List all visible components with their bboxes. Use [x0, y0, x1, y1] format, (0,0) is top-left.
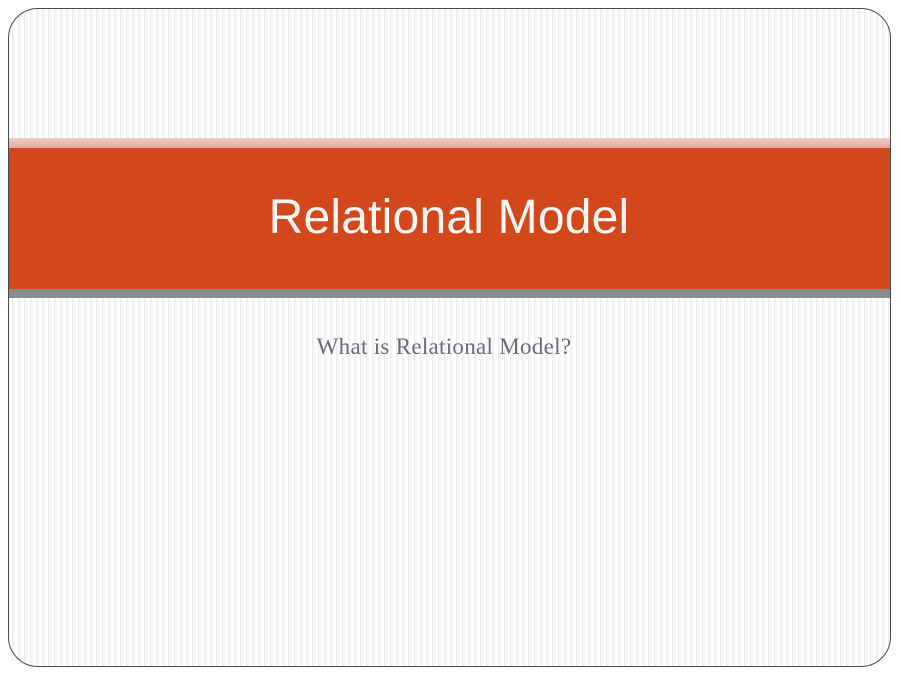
slide-subtitle: What is Relational Model?: [317, 333, 572, 361]
accent-stripe-top: [9, 138, 891, 148]
slide-canvas: Relational Model What is Relational Mode…: [0, 0, 900, 675]
title-band: Relational Model: [9, 138, 891, 298]
accent-stripe-bottom: [9, 289, 891, 298]
slide-title: Relational Model: [269, 194, 630, 244]
subtitle-area: What is Relational Model?: [9, 321, 891, 373]
slide-frame: Relational Model What is Relational Mode…: [8, 8, 891, 667]
title-bar: Relational Model: [9, 148, 891, 289]
slide-body-placeholder: [9, 379, 891, 667]
